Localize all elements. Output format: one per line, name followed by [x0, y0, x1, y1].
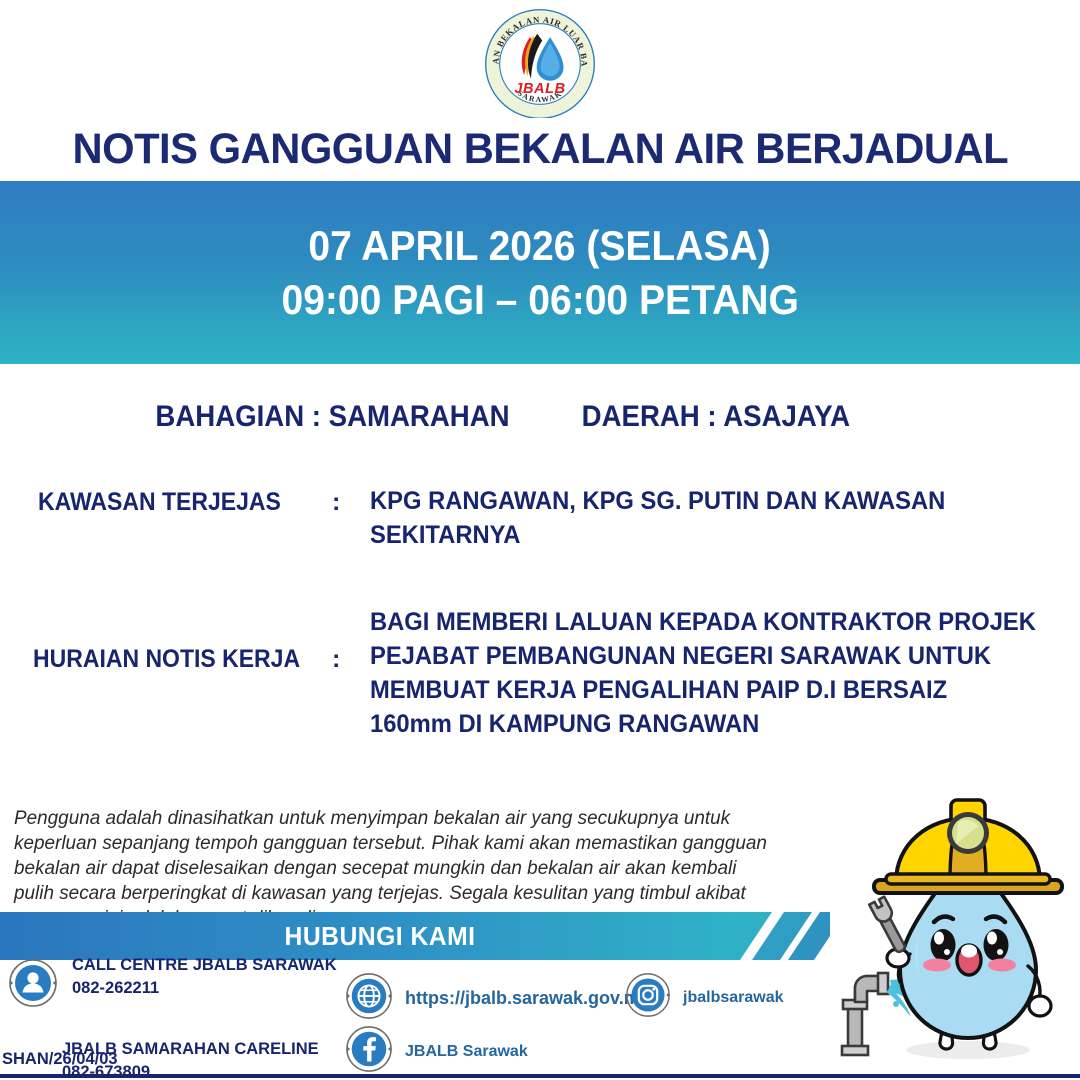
person-icon	[8, 958, 58, 1013]
page-title-text: NOTIS GANGGUAN BEKALAN AIR BERJADUAL	[72, 125, 1008, 174]
instagram-handle[interactable]: jbalbsarawak	[683, 989, 784, 1007]
work-description-label: HURAIAN NOTIS KERJA	[33, 645, 300, 674]
call-centre-name: CALL CENTRE JBALB SARAWAK	[72, 954, 337, 977]
mascot-icon	[838, 788, 1080, 1074]
jbalb-logo: JABATAN BEKALAN AIR LUAR BANDAR SARAWAK …	[0, 8, 1080, 118]
contact-facebook[interactable]: JBALB Sarawak	[345, 1025, 528, 1078]
svg-text:JBALB: JBALB	[514, 81, 565, 97]
jbalb-logo-icon: JABATAN BEKALAN AIR LUAR BANDAR SARAWAK …	[484, 8, 596, 120]
contact-call-centre[interactable]: CALL CENTRE JBALB SARAWAK 082-262211	[8, 958, 337, 1013]
globe-icon	[345, 972, 393, 1025]
work-description-value: BAGI MEMBERI LALUAN KEPADA KONTRAKTOR PR…	[370, 605, 1036, 741]
affected-area-line: SEKITARNYA	[370, 518, 945, 552]
reference-code: SHAN/26/04/03	[2, 1050, 118, 1069]
daerah-label: DAERAH : ASAJAYA	[582, 400, 850, 434]
hard-hat-icon	[874, 800, 1062, 893]
contact-instagram[interactable]: jbalbsarawak	[625, 972, 784, 1023]
affected-area-label: KAWASAN TERJEJAS	[38, 488, 281, 517]
work-description-line: BAGI MEMBERI LALUAN KEPADA KONTRAKTOR PR…	[370, 605, 1036, 639]
contact-bar-shape	[0, 912, 830, 960]
date-time-banner: 07 APRIL 2026 (SELASA) 09:00 PAGI – 06:0…	[0, 181, 1080, 364]
bottom-divider	[0, 1074, 1080, 1078]
call-centre-text: CALL CENTRE JBALB SARAWAK 082-262211	[72, 954, 337, 1000]
region-row: BAHAGIAN : SAMARAHAN DAERAH : ASAJAYA	[0, 400, 1080, 444]
work-description-line: PEJABAT PEMBANGUNAN NEGERI SARAWAK UNTUK	[370, 639, 1036, 673]
facebook-icon	[345, 1025, 393, 1078]
contact-heading-bar: HUBUNGI KAMI	[0, 912, 830, 960]
work-description-line: MEMBUAT KERJA PENGALIHAN PAIP D.I BERSAI…	[370, 673, 1036, 707]
website-url[interactable]: https://jbalb.sarawak.gov.my/	[405, 988, 655, 1009]
water-droplet-mascot	[838, 788, 1080, 1074]
page-title: NOTIS GANGGUAN BEKALAN AIR BERJADUAL	[0, 118, 1080, 181]
affected-area-value: KPG RANGAWAN, KPG SG. PUTIN DAN KAWASAN …	[370, 484, 945, 552]
contact-website[interactable]: https://jbalb.sarawak.gov.my/	[345, 972, 655, 1025]
notice-date: 07 APRIL 2026 (SELASA)	[309, 222, 771, 270]
affected-area-colon: :	[332, 488, 340, 517]
notice-time: 09:00 PAGI – 06:00 PETANG	[281, 276, 798, 324]
instagram-icon	[625, 972, 671, 1023]
facebook-handle[interactable]: JBALB Sarawak	[405, 1043, 528, 1061]
contact-details: CALL CENTRE JBALB SARAWAK 082-262211 JBA…	[0, 960, 840, 1080]
notice-poster: JABATAN BEKALAN AIR LUAR BANDAR SARAWAK …	[0, 0, 1080, 1080]
work-description-colon: :	[332, 645, 340, 674]
affected-area-line: KPG RANGAWAN, KPG SG. PUTIN DAN KAWASAN	[370, 484, 945, 518]
call-centre-phone: 082-262211	[72, 977, 337, 1000]
bahagian-label: BAHAGIAN : SAMARAHAN	[155, 400, 509, 434]
work-description-line: 160mm DI KAMPUNG RANGAWAN	[370, 707, 1036, 741]
